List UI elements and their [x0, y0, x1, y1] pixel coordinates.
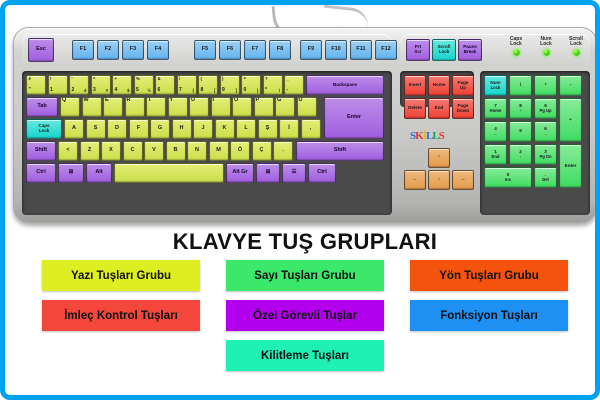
numpad-1-key[interactable]: 1End — [484, 144, 507, 165]
key-sublabel: Pg Dn — [539, 155, 551, 159]
windows-right-key[interactable]: ⊞ — [256, 163, 280, 183]
letter-key-h[interactable]: H — [172, 119, 192, 139]
arrow-up-key[interactable]: ↑ — [428, 148, 450, 168]
menu-key[interactable]: ☰ — [282, 163, 306, 183]
letter-key-ç[interactable]: Ç — [252, 141, 272, 161]
key-label: Enter — [565, 164, 577, 169]
led-light — [513, 49, 520, 56]
letter-key-e[interactable]: E — [103, 97, 123, 117]
led-light — [573, 49, 580, 56]
shift-right-key[interactable]: Shift — [296, 141, 384, 161]
key-label: N — [195, 148, 199, 154]
key-label: Pause Break — [463, 45, 477, 54]
key-label: Y — [170, 98, 174, 104]
key-legend-tl: / — [179, 77, 180, 81]
key-legend-bl: 3 — [93, 88, 96, 93]
key-label: Ctrl — [317, 170, 326, 176]
key-sublabel: Home — [490, 109, 502, 113]
letter-key-w[interactable]: W — [82, 97, 102, 117]
key-label: F10 — [331, 47, 340, 53]
number-row-key-3[interactable]: ^3# — [91, 75, 111, 95]
key-label: . — [282, 148, 284, 154]
key-legend-bl: 6 — [158, 88, 161, 93]
key-legend-tl: ) — [222, 77, 223, 81]
numpad-minus-key[interactable]: - — [559, 75, 582, 96]
letter-key-ğ[interactable]: Ğ — [275, 97, 295, 117]
legend-chip-label: Yazı Tuşları Grubu — [71, 270, 171, 282]
key-legend-br: é — [84, 89, 86, 93]
numpad-9-key[interactable]: 9Pg Up — [534, 98, 557, 119]
numpad-3-key[interactable]: 3Pg Dn — [534, 144, 557, 165]
key-legend-bl: - — [287, 88, 289, 93]
key-label: ⊞ — [266, 170, 271, 176]
key-label: O — [234, 98, 238, 104]
letter-key-a[interactable]: A — [64, 119, 84, 139]
number-row-key-10[interactable]: =0} — [241, 75, 261, 95]
function-key-f11[interactable]: F11 — [350, 40, 372, 60]
alt-gr-key[interactable]: Alt Gr — [226, 163, 254, 183]
key-legend-bl: 8 — [201, 88, 204, 93]
key-label: Q — [62, 98, 66, 104]
scroll-lock-led: ScrollLock — [562, 37, 590, 56]
legend-chip-label: Kilitleme Tuşları — [261, 350, 349, 362]
key-label: X — [109, 148, 113, 154]
key-legend-br: $ — [127, 89, 129, 93]
legend-chip[interactable]: İmleç Kontrol Tuşları — [42, 300, 200, 331]
key-label: ⊞ — [69, 170, 74, 176]
letter-key-b[interactable]: B — [166, 141, 186, 161]
letter-key-r[interactable]: R — [125, 97, 145, 117]
windows-left-key[interactable]: ⊞ — [58, 163, 84, 183]
key-legend-br: { — [192, 89, 194, 93]
caps-lock-led: CapsLock — [502, 37, 530, 56]
function-key-f9[interactable]: F9 — [300, 40, 322, 60]
key-legend-tl: ( — [201, 77, 202, 81]
key-label: İ — [288, 126, 290, 132]
numpad-6-key[interactable]: 6→ — [534, 121, 557, 142]
key-label: ← — [412, 177, 418, 183]
keyboard-illustration: EscF1F2F3F4F5F6F7F8F9F10F11F12Prt ScrScr… — [13, 27, 597, 223]
letter-key-s[interactable]: S — [86, 119, 106, 139]
key-sublabel: → — [543, 132, 547, 136]
number-row-key-5[interactable]: %5½ — [134, 75, 154, 95]
key-label: F7 — [252, 47, 258, 53]
key-legend-br: # — [106, 89, 108, 93]
key-legend-bl: 5 — [136, 88, 139, 93]
function-key-f3[interactable]: F3 — [122, 40, 144, 60]
key-legend-bl: 4 — [115, 88, 118, 93]
key-legend-tl: + — [115, 77, 118, 81]
key-legend-bl: 2 — [72, 88, 75, 93]
key-label: J — [201, 126, 204, 132]
letter-key-ü[interactable]: Ü — [297, 97, 317, 117]
key-legend-br: } — [257, 89, 259, 93]
letter-key-i[interactable]: I — [211, 97, 231, 117]
legend-chip-label: Sayı Tuşları Grubu — [254, 270, 355, 282]
key-sublabel: ← — [493, 132, 497, 136]
letter-key-f[interactable]: F — [129, 119, 149, 139]
numpad-plus-key[interactable]: + — [559, 98, 582, 142]
key-label: Z — [88, 148, 91, 154]
key-label: Shift — [334, 148, 346, 154]
key-legend-bl: 7 — [179, 88, 182, 93]
numpad-divide-key[interactable]: / — [509, 75, 532, 96]
key-label: Enter — [347, 115, 361, 121]
home-key[interactable]: Home — [428, 75, 450, 96]
backspace-key[interactable]: Backspace — [306, 75, 384, 95]
key-label: F6 — [227, 47, 233, 53]
key-legend-tl: ? — [265, 77, 268, 81]
number-row-key-2[interactable]: '2é — [69, 75, 89, 95]
key-label: Ş — [266, 126, 270, 132]
letter-key-ş[interactable]: Ş — [258, 119, 278, 139]
function-key-f6[interactable]: F6 — [219, 40, 241, 60]
key-label: ↓ — [438, 177, 441, 183]
key-label: D — [115, 126, 119, 132]
insert-key[interactable]: Insert — [404, 75, 426, 96]
key-label: A — [72, 126, 76, 132]
letter-key-o[interactable]: O — [232, 97, 252, 117]
key-label: I — [213, 98, 215, 104]
key-label: P — [256, 98, 260, 104]
numpad-0-key[interactable]: 0Ins — [484, 167, 532, 188]
key-label: F3 — [130, 47, 136, 53]
number-row-key-7[interactable]: /7{ — [177, 75, 197, 95]
key-label: F8 — [277, 47, 283, 53]
space-key[interactable] — [114, 163, 224, 183]
legend-row: Yazı Tuşları GrubuSayı Tuşları GrubuYön … — [5, 260, 600, 291]
key-sublabel: Pg Up — [539, 109, 551, 113]
key-label: Scroll Lock — [438, 45, 451, 54]
key-legend-br: ½ — [147, 89, 151, 93]
key-legend-bl: 1 — [50, 88, 53, 93]
alt-left-key[interactable]: Alt — [86, 163, 112, 183]
numpad-decimal-key[interactable]: .Del — [534, 167, 557, 188]
function-key-f5[interactable]: F5 — [194, 40, 216, 60]
shift-left-key[interactable]: Shift — [26, 141, 56, 161]
key-legend-br: \ — [279, 89, 280, 93]
escape-key[interactable]: Esc — [28, 38, 54, 62]
letter-key-c[interactable]: C — [123, 141, 143, 161]
legend-groups: Yazı Tuşları GrubuSayı Tuşları GrubuYön … — [5, 260, 600, 380]
legend-chip[interactable]: Özel Görevli Tuşlar — [226, 300, 384, 331]
letter-key-v[interactable]: V — [144, 141, 164, 161]
legend-chip[interactable]: Fonksiyon Tuşları — [410, 300, 568, 331]
key-legend-tl: ' — [72, 77, 73, 81]
key-legend-tl: ^ — [93, 77, 96, 81]
function-key-f4[interactable]: F4 — [147, 40, 169, 60]
numpad-2-key[interactable]: 2↓ — [509, 144, 532, 165]
letter-key-k[interactable]: K — [215, 119, 235, 139]
key-label: F12 — [381, 47, 390, 53]
letter-key-j[interactable]: J — [193, 119, 213, 139]
key-label: R — [127, 98, 131, 104]
legend-chip[interactable]: Yazı Tuşları Grubu — [42, 260, 200, 291]
key-label: K — [223, 126, 227, 132]
key-label: F5 — [202, 47, 208, 53]
num-lock-led: NumLock — [532, 37, 560, 56]
key-sublabel: Ins — [505, 178, 511, 182]
key-label: C — [131, 148, 135, 154]
key-label: Ç — [260, 148, 264, 154]
delete-key[interactable]: Delete — [404, 98, 426, 119]
legend-chip[interactable]: Sayı Tuşları Grubu — [226, 260, 384, 291]
key-label: Ğ — [277, 98, 281, 104]
page-title: KLAVYE TUŞ GRUPLARI — [5, 229, 600, 255]
key-label: T — [148, 98, 151, 104]
key-label: End — [435, 106, 444, 111]
number-row-key-9[interactable]: )9] — [220, 75, 240, 95]
key-label: Page Up — [458, 81, 469, 90]
key-label: Shift — [35, 148, 47, 154]
key-label: E — [105, 98, 109, 104]
key-sublabel: Lock — [491, 86, 501, 90]
key-label: → — [460, 177, 466, 183]
key-label: Tab — [37, 104, 46, 110]
key-legend-bl: " — [29, 88, 31, 93]
legend-chip-label: Özel Görevli Tuşlar — [253, 310, 357, 322]
function-key-f10[interactable]: F10 — [325, 40, 347, 60]
key-label: Caps Lock — [38, 124, 49, 133]
key-label: F9 — [308, 47, 314, 53]
key-label: - — [570, 83, 572, 88]
function-key-f7[interactable]: F7 — [244, 40, 266, 60]
letter-key-,[interactable]: , — [301, 119, 321, 139]
led-label-line2: Lock — [532, 42, 560, 47]
letter-key-x[interactable]: X — [101, 141, 121, 161]
led-label-line2: Lock — [502, 42, 530, 47]
print-screen-key[interactable]: Prt Scr — [406, 39, 430, 61]
key-label: Ctrl — [36, 170, 45, 176]
key-label: Page Down — [457, 104, 470, 113]
key-label: ☰ — [292, 170, 297, 176]
legend-row: Kilitleme Tuşları — [5, 340, 600, 371]
legend-chip[interactable]: Yön Tuşları Grubu — [410, 260, 568, 291]
letter-key-n[interactable]: N — [187, 141, 207, 161]
numpad-enter-key[interactable]: Enter — [559, 144, 582, 188]
key-label: B — [174, 148, 178, 154]
pause-break-key[interactable]: Pause Break — [458, 39, 482, 61]
key-label: Insert — [409, 83, 422, 88]
key-legend-br: ] — [236, 89, 237, 93]
num-lock-key[interactable]: NumLock — [484, 75, 507, 96]
number-row-key-8[interactable]: (8[ — [198, 75, 218, 95]
number-row-key-6[interactable]: &6 — [155, 75, 175, 95]
key-label: , — [310, 126, 312, 132]
key-label: W — [84, 98, 89, 104]
function-key-f1[interactable]: F1 — [72, 40, 94, 60]
key-legend-tl: % — [136, 77, 140, 81]
key-label: Prt Scr — [414, 45, 421, 54]
key-label: * — [545, 83, 547, 88]
key-label: G — [158, 126, 162, 132]
end-key[interactable]: End — [428, 98, 450, 119]
letter-key-<[interactable]: < — [58, 141, 78, 161]
function-key-f12[interactable]: F12 — [375, 40, 397, 60]
legend-chip[interactable]: Kilitleme Tuşları — [226, 340, 384, 371]
key-legend-tl: & — [158, 77, 161, 81]
key-label: M — [216, 148, 221, 154]
enter-key[interactable]: Enter — [324, 97, 384, 139]
key-label: U — [191, 98, 195, 104]
key-label: F1 — [80, 47, 86, 53]
page-down-key[interactable]: Page Down — [452, 98, 474, 119]
letter-key-d[interactable]: D — [107, 119, 127, 139]
legend-chip-label: İmleç Kontrol Tuşları — [64, 310, 178, 322]
key-legend-bl: * — [265, 88, 267, 93]
key-label: Alt Gr — [232, 170, 247, 176]
key-label: Esc — [36, 47, 46, 53]
key-label: Home — [433, 83, 446, 88]
key-label: + — [569, 118, 572, 123]
key-label: < — [66, 148, 69, 154]
key-label: H — [180, 126, 184, 132]
numpad-5-key[interactable]: 5 — [509, 121, 532, 142]
number-row-key-0[interactable]: é" — [26, 75, 46, 95]
letter-key-m[interactable]: M — [209, 141, 229, 161]
led-label-line2: Lock — [562, 42, 590, 47]
letter-key-ö[interactable]: Ö — [230, 141, 250, 161]
brand-logo: SKİLLS — [410, 130, 444, 142]
key-label: V — [152, 148, 156, 154]
letter-key-z[interactable]: Z — [80, 141, 100, 161]
letter-key-q[interactable]: Q — [60, 97, 80, 117]
scroll-lock-key[interactable]: Scroll Lock — [432, 39, 456, 61]
letter-key-u[interactable]: U — [189, 97, 209, 117]
key-legend-tl: é — [29, 77, 31, 81]
key-label: F2 — [105, 47, 111, 53]
caps-lock-key[interactable]: Caps Lock — [26, 119, 62, 139]
function-key-f8[interactable]: F8 — [269, 40, 291, 60]
logo-letter: S — [439, 130, 444, 142]
legend-chip-label: Fonksiyon Tuşları — [440, 310, 538, 322]
key-label: Ü — [299, 98, 303, 104]
key-sublabel: ↓ — [519, 155, 521, 159]
letter-key-l[interactable]: L — [236, 119, 256, 139]
key-label: Delete — [408, 106, 422, 111]
numpad-multiply-key[interactable]: * — [534, 75, 557, 96]
letter-key-g[interactable]: G — [150, 119, 170, 139]
letter-key-i̇[interactable]: İ — [279, 119, 299, 139]
number-row-key-1[interactable]: !1 — [48, 75, 68, 95]
key-label: S — [94, 126, 98, 132]
letter-key-y[interactable]: Y — [168, 97, 188, 117]
key-label: Alt — [95, 170, 102, 176]
numpad-8-key[interactable]: 8↑ — [509, 98, 532, 119]
number-row-key-12[interactable]: _- — [284, 75, 304, 95]
key-label: / — [520, 83, 521, 88]
arrow-left-key[interactable]: ← — [404, 170, 426, 190]
numpad-4-key[interactable]: 4← — [484, 121, 507, 142]
letter-key-.[interactable]: . — [273, 141, 293, 161]
key-legend-br: [ — [214, 89, 215, 93]
arrow-down-key[interactable]: ↓ — [428, 170, 450, 190]
key-label: F — [137, 126, 140, 132]
key-label: Backspace — [333, 83, 357, 88]
poster-frame: EscF1F2F3F4F5F6F7F8F9F10F11F12Prt ScrScr… — [0, 0, 600, 400]
key-legend-bl: 9 — [222, 88, 225, 93]
ctrl-left-key[interactable]: Ctrl — [26, 163, 56, 183]
key-legend-tl: ! — [50, 77, 51, 81]
ctrl-right-key[interactable]: Ctrl — [308, 163, 336, 183]
key-sublabel: End — [492, 155, 500, 159]
key-label: F11 — [356, 47, 365, 53]
letter-key-p[interactable]: P — [254, 97, 274, 117]
key-label: Ö — [238, 148, 242, 154]
key-legend-bl: 0 — [244, 88, 247, 93]
arrow-right-key[interactable]: → — [452, 170, 474, 190]
key-label: ↑ — [438, 155, 441, 161]
number-row-key-11[interactable]: ?*\ — [263, 75, 283, 95]
key-label: L — [244, 126, 247, 132]
logo-letter: K — [415, 130, 423, 142]
tab-key[interactable]: Tab — [26, 97, 58, 117]
legend-chip-label: Yön Tuşları Grubu — [439, 270, 538, 282]
letter-key-t[interactable]: T — [146, 97, 166, 117]
page-up-key[interactable]: Page Up — [452, 75, 474, 96]
led-light — [543, 49, 550, 56]
function-key-f2[interactable]: F2 — [97, 40, 119, 60]
key-label: 5 — [519, 129, 522, 134]
key-label: F4 — [155, 47, 161, 53]
numpad-7-key[interactable]: 7Home — [484, 98, 507, 119]
key-sublabel: Del — [542, 178, 549, 182]
key-sublabel: ↑ — [519, 109, 521, 113]
key-legend-tl: = — [244, 77, 247, 81]
legend-row: İmleç Kontrol TuşlarıÖzel Görevli Tuşlar… — [5, 300, 600, 331]
number-row-key-4[interactable]: +4$ — [112, 75, 132, 95]
key-legend-tl: _ — [287, 77, 289, 81]
